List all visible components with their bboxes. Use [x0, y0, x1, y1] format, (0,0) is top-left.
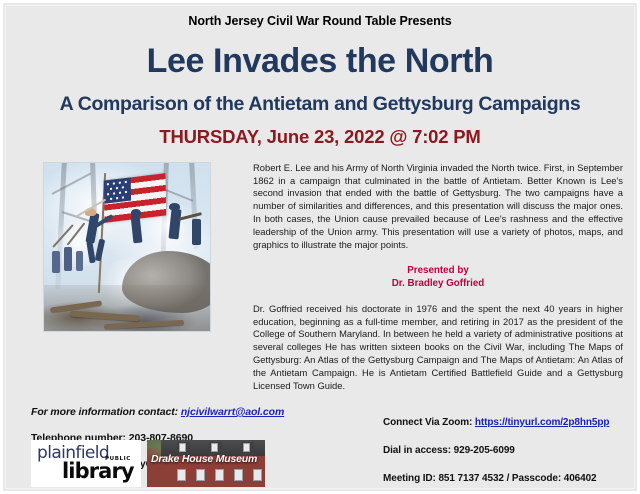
soldier-figure — [192, 219, 201, 245]
contact-email-line: For more information contact: njcivilwar… — [31, 406, 383, 418]
event-description: Robert E. Lee and his Army of North Virg… — [253, 162, 623, 252]
library-logo-word-two: library — [62, 459, 134, 483]
drake-house-window — [179, 443, 186, 452]
drake-house-window — [211, 443, 218, 452]
soldier-figure — [76, 251, 83, 271]
text-column: Robert E. Lee and his Army of North Virg… — [253, 162, 629, 393]
soldier-figure — [52, 251, 60, 273]
content-band: Robert E. Lee and his Army of North Virg… — [3, 162, 637, 393]
organization-line: North Jersey Civil War Round Table Prese… — [3, 3, 637, 28]
civil-war-battle-painting — [43, 162, 211, 332]
page-subtitle: A Comparison of the Antietam and Gettysb… — [3, 93, 637, 116]
presented-by-label: Presented by — [253, 265, 623, 278]
soldier-figure — [64, 247, 72, 271]
email-link[interactable]: njcivilwarrt@aol.com — [181, 406, 284, 418]
event-flyer: North Jersey Civil War Round Table Prese… — [0, 0, 640, 494]
presenter-bio: Dr. Goffried received his doctorate in 1… — [253, 303, 623, 393]
artwork-column — [43, 162, 253, 393]
zoom-connect-label: Connect Via Zoom: — [383, 417, 472, 428]
soldier-cap — [131, 209, 141, 216]
zoom-link[interactable]: https://tinyurl.com/2p8hn5pp — [475, 417, 609, 428]
drake-house-window — [243, 443, 250, 452]
drake-house-window — [215, 469, 224, 481]
drake-house-museum-logo[interactable]: Drake House Museum — [147, 440, 265, 487]
drake-house-museum-label: Drake House Museum — [151, 453, 263, 465]
zoom-column: Connect Via Zoom: https://tinyurl.com/2p… — [383, 406, 627, 484]
presenter-name: Dr. Bradley Goffried — [253, 278, 623, 291]
event-date-line: THURSDAY, June 23, 2022 @ 7:02 PM — [3, 126, 637, 148]
zoom-dial-in-line: Dial in access: 929-205-6099 — [383, 445, 627, 456]
page-title: Lee Invades the North — [3, 44, 637, 80]
drake-house-window — [196, 469, 205, 481]
plainfield-public-library-logo[interactable]: plainfield PUBLIC library — [31, 440, 141, 487]
sponsor-logos: plainfield PUBLIC library Drake House Mu… — [31, 440, 265, 487]
presenter-block: Presented by Dr. Bradley Goffried — [253, 265, 623, 291]
flag-canton — [104, 177, 131, 203]
soldier-cap — [169, 203, 180, 210]
contact-info-label: For more information contact: — [31, 406, 178, 418]
zoom-connect-line: Connect Via Zoom: https://tinyurl.com/2p… — [383, 417, 627, 428]
zoom-meeting-id-line: Meeting ID: 851 7137 4532 / Passcode: 40… — [383, 473, 627, 484]
drake-house-window — [177, 469, 186, 481]
drake-house-window — [234, 469, 243, 481]
drake-house-window — [253, 469, 262, 481]
